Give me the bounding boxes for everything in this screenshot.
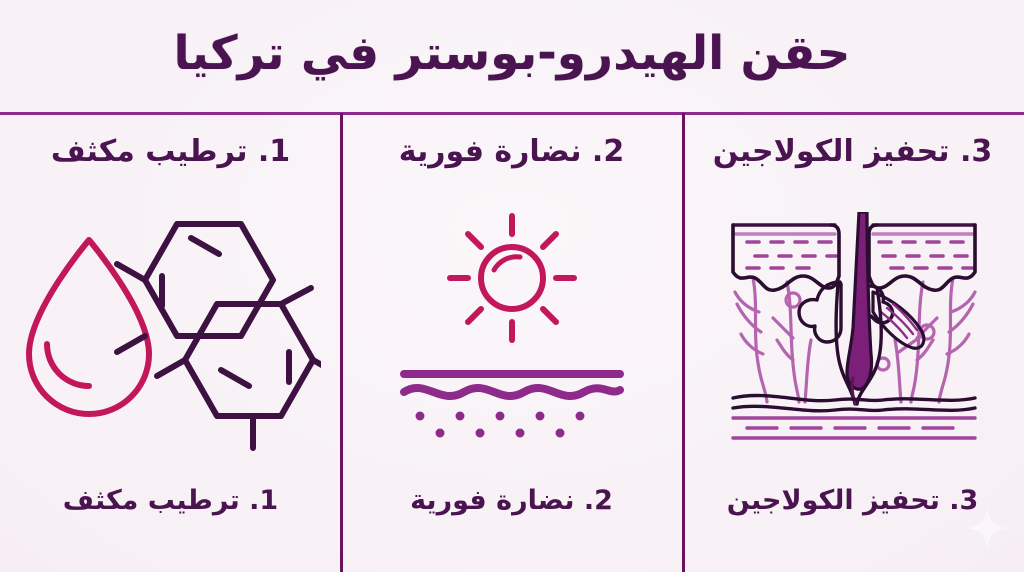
column-1-artwork xyxy=(0,170,341,486)
naphthalene-molecule-icon xyxy=(117,224,321,448)
column-2-caption: 2. نضارة فورية xyxy=(410,485,613,516)
droplet-icon xyxy=(29,240,149,414)
column-hydration: 1. ترطيب مكثف xyxy=(0,113,341,572)
page-title: حقن الهيدرو-بوستر في تركيا xyxy=(173,29,850,84)
sun-radiant-skin-icon xyxy=(382,202,642,452)
column-1-caption: 1. ترطيب مكثف xyxy=(63,485,278,516)
skin-cross-section-follicle-icon xyxy=(707,212,999,442)
column-3-artwork xyxy=(682,170,1023,486)
column-2-heading: 2. نضارة فورية xyxy=(399,135,624,170)
hypodermis-lines xyxy=(733,418,975,438)
epidermis-top-lines xyxy=(733,225,975,234)
columns-container: 1. ترطيب مكثف xyxy=(0,113,1024,572)
column-2-artwork xyxy=(341,170,682,486)
column-3-caption: 3. تحفيز الكولاجين xyxy=(727,485,979,516)
column-radiance: 2. نضارة فورية xyxy=(341,113,682,572)
skin-dots xyxy=(415,412,584,438)
infographic-canvas: حقن الهيدرو-بوستر في تركيا 1. ترطيب مكثف xyxy=(0,0,1024,572)
column-collagen: 3. تحفيز الكولاجين xyxy=(682,113,1023,572)
water-droplet-molecule-icon xyxy=(21,202,321,452)
title-band: حقن الهيدرو-بوستر في تركيا xyxy=(0,0,1024,113)
column-1-heading: 1. ترطيب مكثف xyxy=(51,135,290,170)
column-3-heading: 3. تحفيز الكولاجين xyxy=(713,135,993,170)
skin-wave-line xyxy=(404,388,620,396)
sun-icon xyxy=(450,216,574,340)
